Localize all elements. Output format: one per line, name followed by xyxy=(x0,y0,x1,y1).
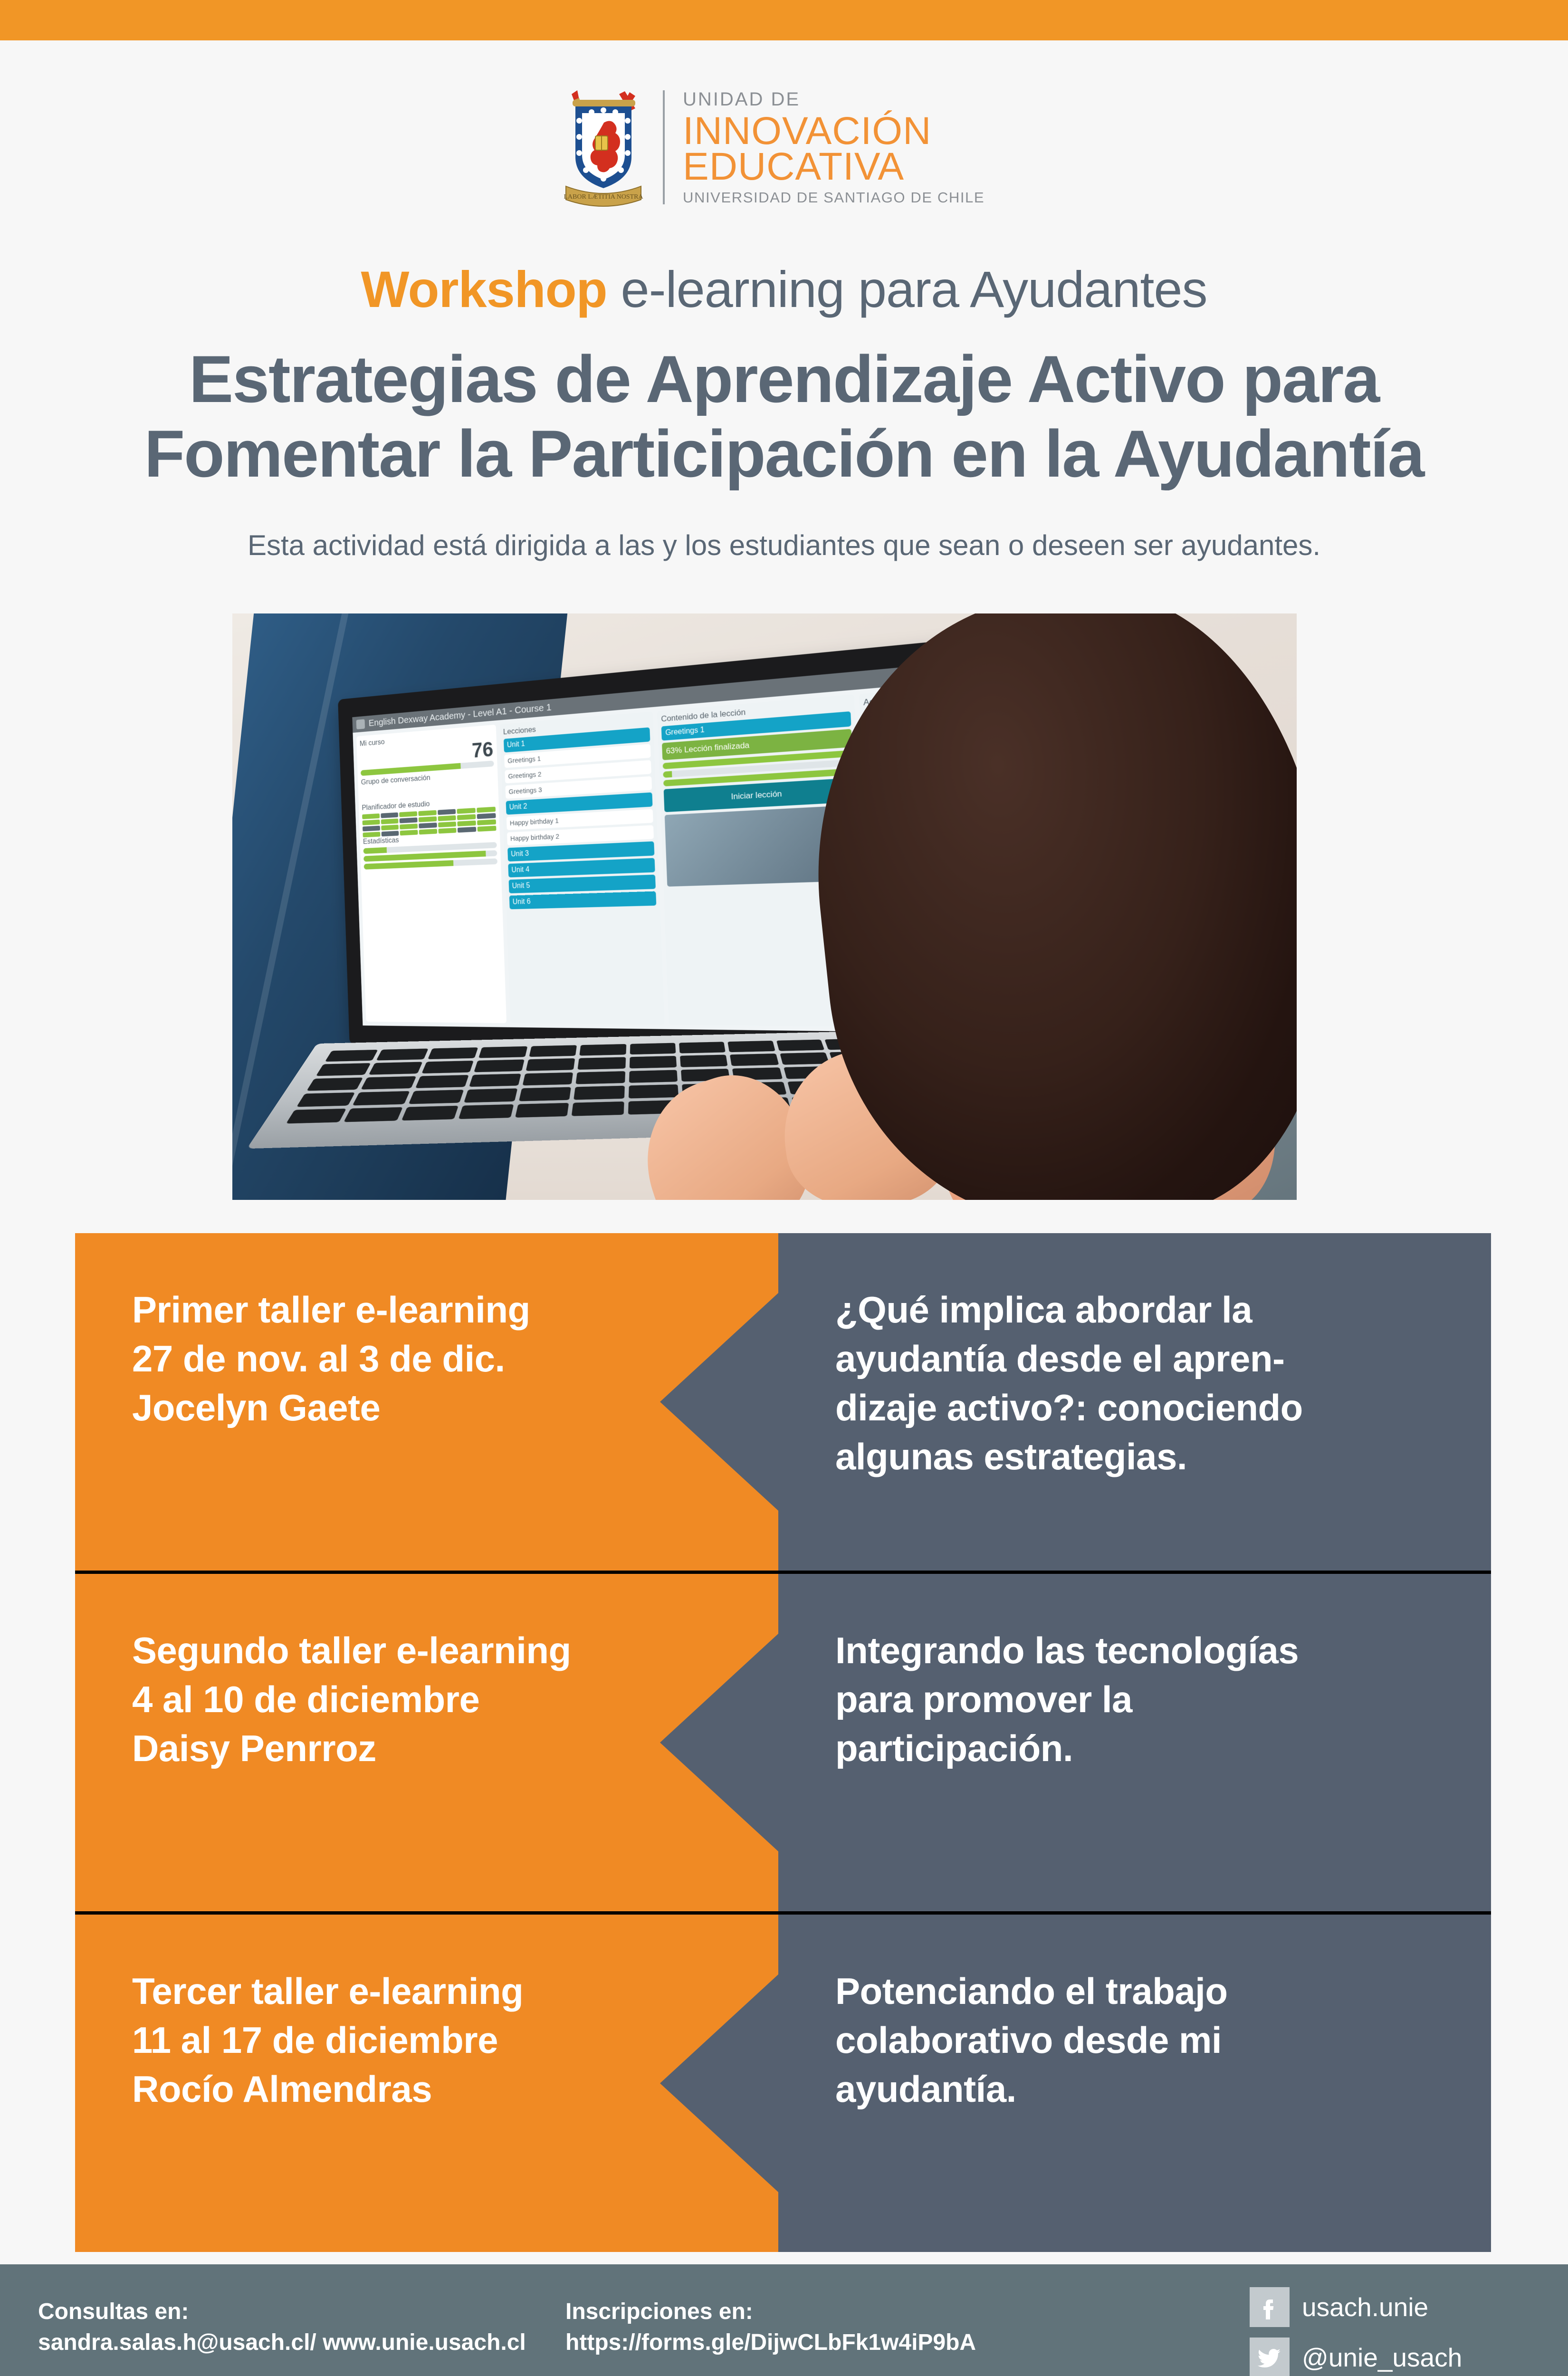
session-info: Segundo taller e-learning 4 al 10 de dic… xyxy=(132,1626,778,1773)
session-info: Tercer taller e-learning 11 al 17 de dic… xyxy=(132,1967,778,2114)
schedule-cell-session: Tercer taller e-learning 11 al 17 de dic… xyxy=(75,1915,778,2252)
topic-info: Integrando las tecnologías para promover… xyxy=(835,1626,1434,1773)
footer-inscripciones-block: Inscripciones en: https://forms.gle/Dijw… xyxy=(565,2297,976,2358)
topic-info: Potenciando el trabajo colaborativo desd… xyxy=(835,1967,1434,2114)
footer-consultas-block: Consultas en: sandra.salas.h@usach.cl/ w… xyxy=(38,2297,526,2358)
schedule-cell-topic: ¿Qué implica abordar la ayudantía desde … xyxy=(778,1233,1491,1571)
kicker-line: Workshop e-learning para Ayudantes xyxy=(0,264,1568,315)
facebook-handle: usach.unie xyxy=(1302,2292,1428,2322)
hero-photo: English Dexway Academy - Level A1 - Cour… xyxy=(232,613,1297,1200)
session-info: Primer taller e-learning 27 de nov. al 3… xyxy=(132,1285,778,1432)
unie-logo: LABOR LÆTITIA NOSTRA UNIDAD DE INNOVACIÓ… xyxy=(558,81,1033,214)
footer-social-block: usach.unie @unie_usach xyxy=(1250,2287,1462,2376)
logo-divider xyxy=(663,90,665,204)
logo-line-unidad: UNIDAD DE xyxy=(683,90,985,109)
unit-row: Unit 6 xyxy=(509,891,656,910)
unit-row: Unit 4 xyxy=(508,858,655,877)
lesson-progress-value: 63 xyxy=(666,746,675,756)
table-row: Tercer taller e-learning 11 al 17 de dic… xyxy=(75,1911,1491,2252)
headline-line-2: Fomentar la Participación en la Ayudantí… xyxy=(0,417,1568,491)
screen-panel-lecciones: Lecciones Unit 1 Greetings 1 Greetings 2… xyxy=(499,711,664,1025)
consultas-value[interactable]: sandra.salas.h@usach.cl/ www.unie.usach.… xyxy=(38,2328,526,2358)
logo-line-educativa: EDUCATIVA xyxy=(683,148,985,186)
unit-row: Unit 5 xyxy=(508,875,656,893)
table-row: Primer taller e-learning 27 de nov. al 3… xyxy=(75,1233,1491,1571)
facebook-icon xyxy=(1250,2287,1290,2327)
page-title: Estrategias de Aprendizaje Activo para F… xyxy=(0,342,1568,491)
screen-panel-mi-curso: Mi curso 76 Grupo de conversación Planif… xyxy=(356,725,507,1023)
logo-line-innovacion: INNOVACIÓN xyxy=(683,113,985,150)
workshop-schedule-table: Primer taller e-learning 27 de nov. al 3… xyxy=(75,1233,1491,2274)
svg-text:LABOR LÆTITIA NOSTRA: LABOR LÆTITIA NOSTRA xyxy=(564,193,643,201)
usach-crest-icon: LABOR LÆTITIA NOSTRA xyxy=(558,86,649,209)
table-row: Segundo taller e-learning 4 al 10 de dic… xyxy=(75,1571,1491,1911)
topic-info: ¿Qué implica abordar la ayudantía desde … xyxy=(835,1285,1434,1481)
social-twitter[interactable]: @unie_usach xyxy=(1250,2338,1462,2376)
twitter-handle: @unie_usach xyxy=(1302,2342,1462,2373)
lesson-status-text: Lección finalizada xyxy=(684,740,750,754)
schedule-cell-session: Primer taller e-learning 27 de nov. al 3… xyxy=(75,1233,778,1571)
logo-line-universidad: UNIVERSIDAD DE SANTIAGO DE CHILE xyxy=(683,190,985,205)
inscripciones-url[interactable]: https://forms.gle/DijwCLbFk1w4iP9bA xyxy=(565,2328,976,2358)
schedule-cell-topic: Potenciando el trabajo colaborativo desd… xyxy=(778,1915,1491,2252)
screen-back-icon xyxy=(356,719,365,729)
page-subtitle: Esta actividad está dirigida a las y los… xyxy=(0,531,1568,560)
twitter-icon xyxy=(1250,2338,1290,2376)
top-accent-bar xyxy=(0,0,1568,40)
headline-line-1: Estrategias de Aprendizaje Activo para xyxy=(0,342,1568,417)
kicker-highlight: Workshop xyxy=(361,260,607,318)
inscripciones-label: Inscripciones en: xyxy=(565,2297,976,2328)
schedule-cell-topic: Integrando las tecnologías para promover… xyxy=(778,1574,1491,1911)
social-facebook[interactable]: usach.unie xyxy=(1250,2287,1462,2327)
consultas-label: Consultas en: xyxy=(38,2297,526,2328)
kicker-rest: e-learning para Ayudantes xyxy=(607,260,1207,318)
schedule-cell-session: Segundo taller e-learning 4 al 10 de dic… xyxy=(75,1574,778,1911)
page-footer: Consultas en: sandra.salas.h@usach.cl/ w… xyxy=(0,2264,1568,2376)
